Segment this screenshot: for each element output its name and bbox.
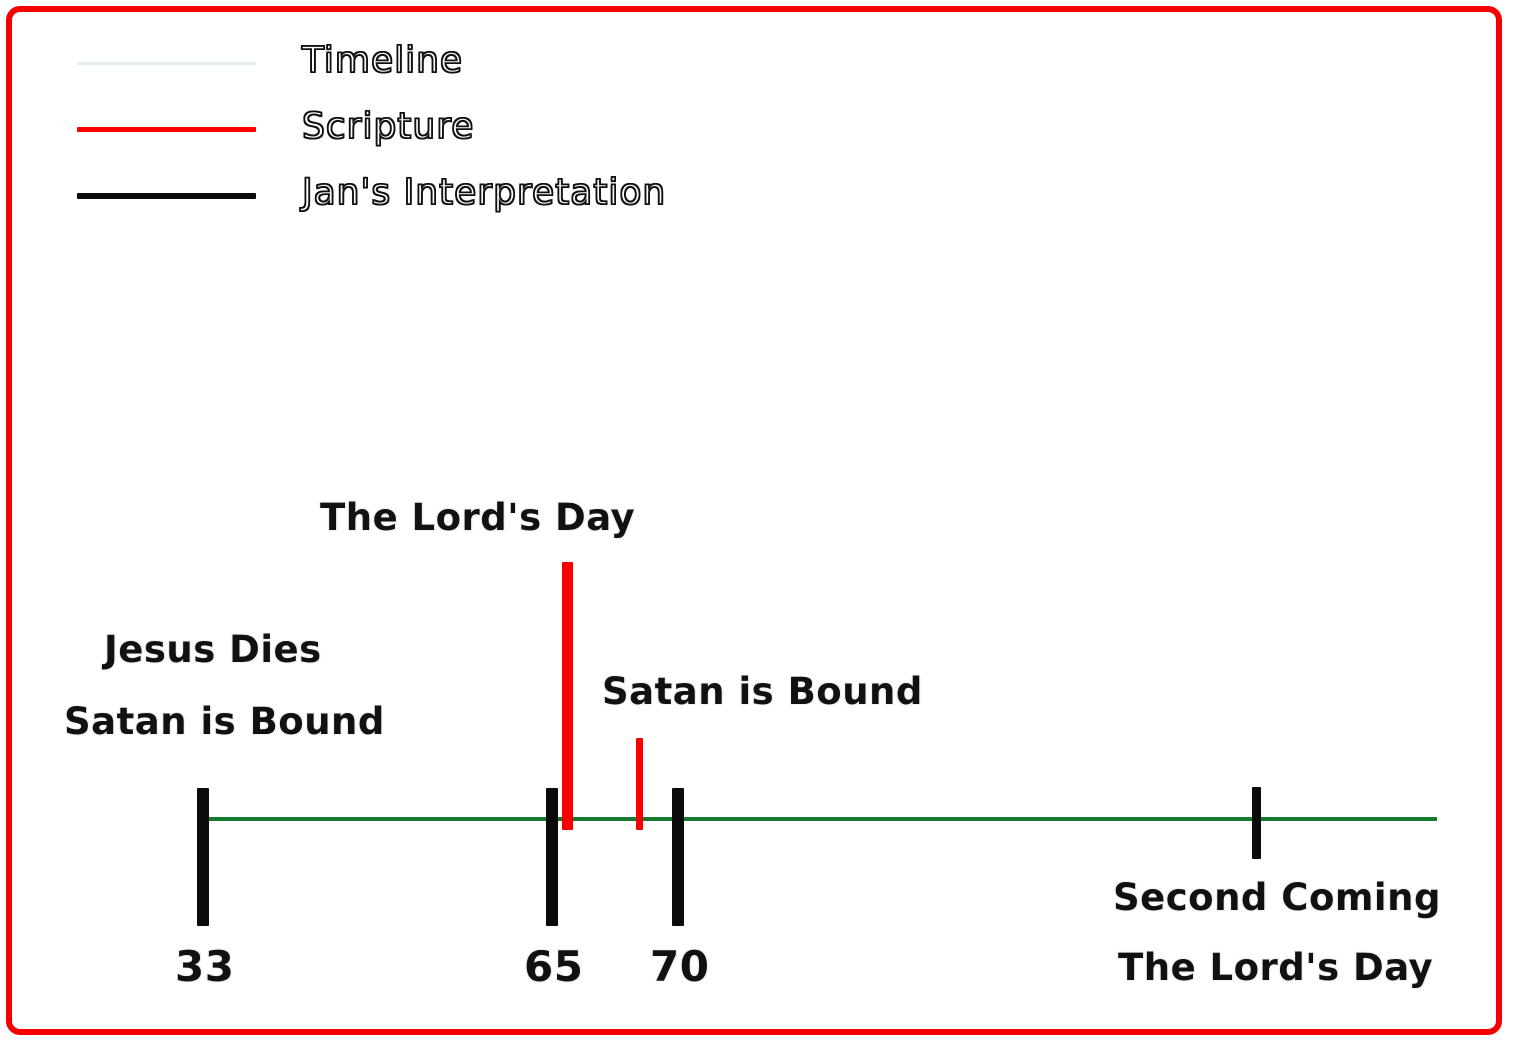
event-mark-lords-day-scripture	[562, 562, 573, 830]
event-mark-satan-bound-scripture	[636, 738, 643, 830]
tick-label-33: 33	[175, 942, 234, 991]
annotation-second-coming: Second Coming	[1113, 876, 1441, 919]
tick-label-70: 70	[650, 942, 709, 991]
event-mark-33	[197, 788, 209, 926]
annotation-lords-day-right: The Lord's Day	[1118, 946, 1433, 989]
legend-label-timeline: Timeline	[302, 40, 463, 81]
scripture-swatch	[77, 127, 256, 132]
event-mark-70	[672, 788, 684, 926]
legend-label-interpretation: Jan's Interpretation	[302, 172, 666, 213]
interpretation-swatch	[77, 193, 256, 199]
timeline-swatch	[77, 62, 256, 65]
timeline-figure: Timeline Scripture Jan's Interpretation …	[0, 0, 1514, 1047]
annotation-satan-bound-mid: Satan is Bound	[602, 670, 923, 713]
annotation-satan-bound-left: Satan is Bound	[64, 700, 385, 743]
annotation-lords-day-top: The Lord's Day	[320, 496, 635, 539]
legend: Timeline Scripture Jan's Interpretation	[0, 0, 1514, 240]
event-mark-65	[546, 788, 558, 926]
legend-label-scripture: Scripture	[302, 106, 474, 147]
tick-label-65: 65	[524, 942, 583, 991]
annotation-jesus-dies: Jesus Dies	[104, 628, 322, 671]
event-mark-second-coming	[1252, 787, 1261, 859]
